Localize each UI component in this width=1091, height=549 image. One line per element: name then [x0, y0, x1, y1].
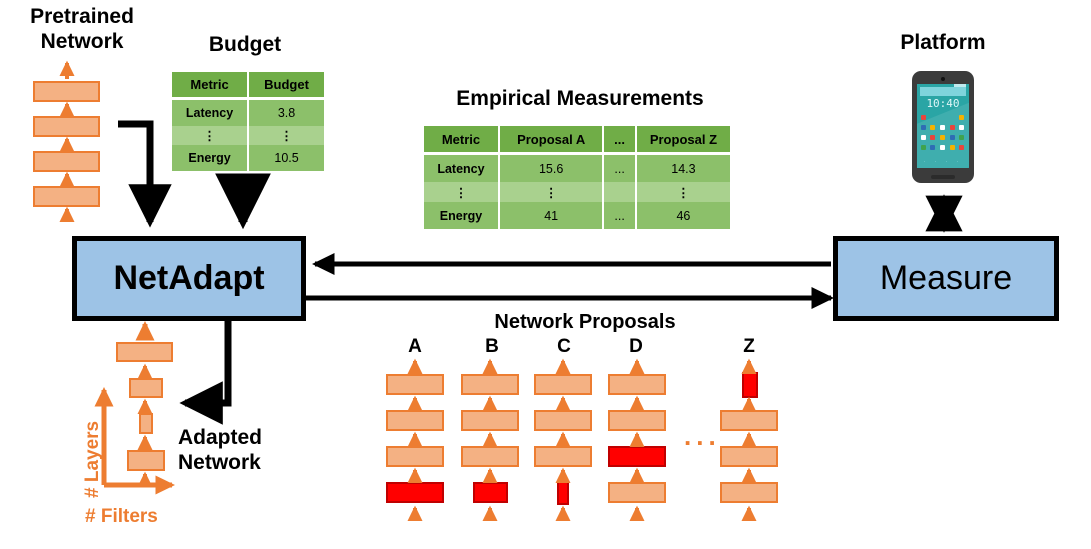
phone-app-icon — [959, 145, 964, 150]
phone-app-icon — [921, 125, 926, 130]
pretrained-network-title: Pretrained Network — [12, 4, 152, 54]
table-cell: ⋮ — [636, 182, 731, 202]
table-row: ⋮ ⋮ ⋮ — [423, 182, 731, 202]
phone-app-icon — [930, 145, 935, 150]
layer-block-highlighted — [608, 446, 666, 467]
budget-table: Metric Budget Latency 3.8 ⋮ ⋮ Energy 10.… — [170, 72, 326, 171]
table-cell: Energy — [423, 202, 499, 229]
diagram-canvas: Pretrained Network Budget Empirical Meas… — [0, 0, 1091, 549]
layer-block — [33, 116, 100, 137]
layer-block — [720, 446, 778, 467]
proposal-label-D: D — [624, 336, 648, 358]
phone-app-icon — [959, 115, 964, 120]
table-cell: 14.3 — [636, 154, 731, 183]
phone-clock: 10:40 — [917, 97, 969, 110]
layer-block — [386, 446, 444, 467]
layer-block — [33, 81, 100, 102]
table-row: Energy 10.5 — [171, 145, 325, 171]
layer-block-highlighted — [557, 480, 569, 505]
phone-app-icon — [940, 135, 945, 140]
network-proposals-title: Network Proposals — [470, 310, 700, 334]
budget-title: Budget — [180, 32, 310, 57]
phone-app-icon — [950, 135, 955, 140]
phone-camera — [941, 77, 945, 81]
pretrained-network-title-line1: Pretrained — [12, 4, 152, 29]
axis-label-filters: # Filters — [85, 506, 158, 528]
table-header-cell: Proposal Z — [636, 126, 731, 154]
layer-block — [608, 410, 666, 431]
table-cell: ... — [603, 154, 635, 183]
platform-title: Platform — [878, 30, 1008, 55]
layer-block — [720, 410, 778, 431]
phone-app-icon — [950, 125, 955, 130]
axis-label-layers: # Layers — [82, 421, 104, 498]
table-cell: ⋮ — [499, 182, 603, 202]
phone-screen: 10:40 · · · · — [917, 84, 969, 168]
adapted-network-title: Adapted Network — [178, 425, 298, 475]
table-cell: ... — [603, 202, 635, 229]
proposal-label-Z: Z — [737, 336, 761, 358]
layer-block — [116, 342, 173, 362]
layer-block — [608, 482, 666, 503]
phone-app-icon — [959, 135, 964, 140]
table-cell: Energy — [171, 145, 248, 171]
layer-block — [461, 374, 519, 395]
phone-app-icon — [921, 145, 926, 150]
layer-block — [139, 413, 153, 434]
table-cell — [603, 182, 635, 202]
table-cell: 3.8 — [248, 99, 325, 127]
table-cell: ⋮ — [248, 126, 325, 145]
layer-block — [386, 410, 444, 431]
phone-app-icon — [940, 145, 945, 150]
table-cell: 15.6 — [499, 154, 603, 183]
table-row: Latency 3.8 — [171, 99, 325, 127]
layer-block — [386, 374, 444, 395]
empirical-measurements-table: Metric Proposal A ... Proposal Z Latency… — [422, 126, 732, 229]
proposal-label-B: B — [480, 336, 504, 358]
layer-block — [127, 450, 165, 471]
phone-search-bar — [920, 87, 966, 96]
adapted-network-title-line2: Network — [178, 450, 298, 475]
proposal-label-C: C — [552, 336, 576, 358]
phone-home-dots: · · · · — [917, 159, 969, 165]
layer-block — [33, 186, 100, 207]
phone-app-icon — [950, 145, 955, 150]
phone-speaker — [931, 175, 955, 179]
table-row: Latency 15.6 ... 14.3 — [423, 154, 731, 183]
layer-block-highlighted — [386, 482, 444, 503]
table-header-row: Metric Proposal A ... Proposal Z — [423, 126, 731, 154]
layer-block-highlighted — [473, 482, 508, 503]
layer-block — [534, 374, 592, 395]
netadapt-box[interactable]: NetAdapt — [72, 236, 306, 321]
table-cell: 41 — [499, 202, 603, 229]
measure-label: Measure — [880, 259, 1012, 298]
table-row: ⋮ ⋮ — [171, 126, 325, 145]
table-header-cell: ... — [603, 126, 635, 154]
phone-app-icon — [921, 115, 926, 120]
layer-block — [461, 410, 519, 431]
proposal-label-A: A — [403, 336, 427, 358]
adapted-network-title-line1: Adapted — [178, 425, 298, 450]
layer-block — [608, 374, 666, 395]
table-header-cell: Metric — [423, 126, 499, 154]
table-cell: 10.5 — [248, 145, 325, 171]
layer-block — [129, 378, 163, 398]
table-row: Energy 41 ... 46 — [423, 202, 731, 229]
phone-app-icon — [930, 135, 935, 140]
table-cell: Latency — [423, 154, 499, 183]
layer-block — [534, 446, 592, 467]
netadapt-to-adapted-network-connector — [185, 318, 228, 403]
layer-block-highlighted — [742, 372, 758, 398]
phone-app-icon — [959, 125, 964, 130]
layer-block — [720, 482, 778, 503]
layer-block — [461, 446, 519, 467]
phone-app-icon — [921, 135, 926, 140]
table-header-cell: Proposal A — [499, 126, 603, 154]
layer-block — [33, 151, 100, 172]
netadapt-label: NetAdapt — [113, 259, 264, 298]
table-cell: ⋮ — [423, 182, 499, 202]
phone-status-bar — [954, 84, 966, 87]
proposals-ellipsis: ... — [684, 421, 721, 452]
pretrained-to-netadapt-connector — [118, 124, 150, 222]
table-header-row: Metric Budget — [171, 72, 325, 99]
table-header-cell: Budget — [248, 72, 325, 99]
table-cell: Latency — [171, 99, 248, 127]
table-cell: 46 — [636, 202, 731, 229]
phone-app-icon — [940, 125, 945, 130]
table-cell: ⋮ — [171, 126, 248, 145]
empirical-measurements-title: Empirical Measurements — [425, 86, 735, 111]
phone-app-icon — [930, 125, 935, 130]
layer-block — [534, 410, 592, 431]
table-header-cell: Metric — [171, 72, 248, 99]
pretrained-network-title-line2: Network — [12, 29, 152, 54]
measure-box[interactable]: Measure — [833, 236, 1059, 321]
platform-phone-icon: 10:40 · · · · — [912, 71, 974, 183]
